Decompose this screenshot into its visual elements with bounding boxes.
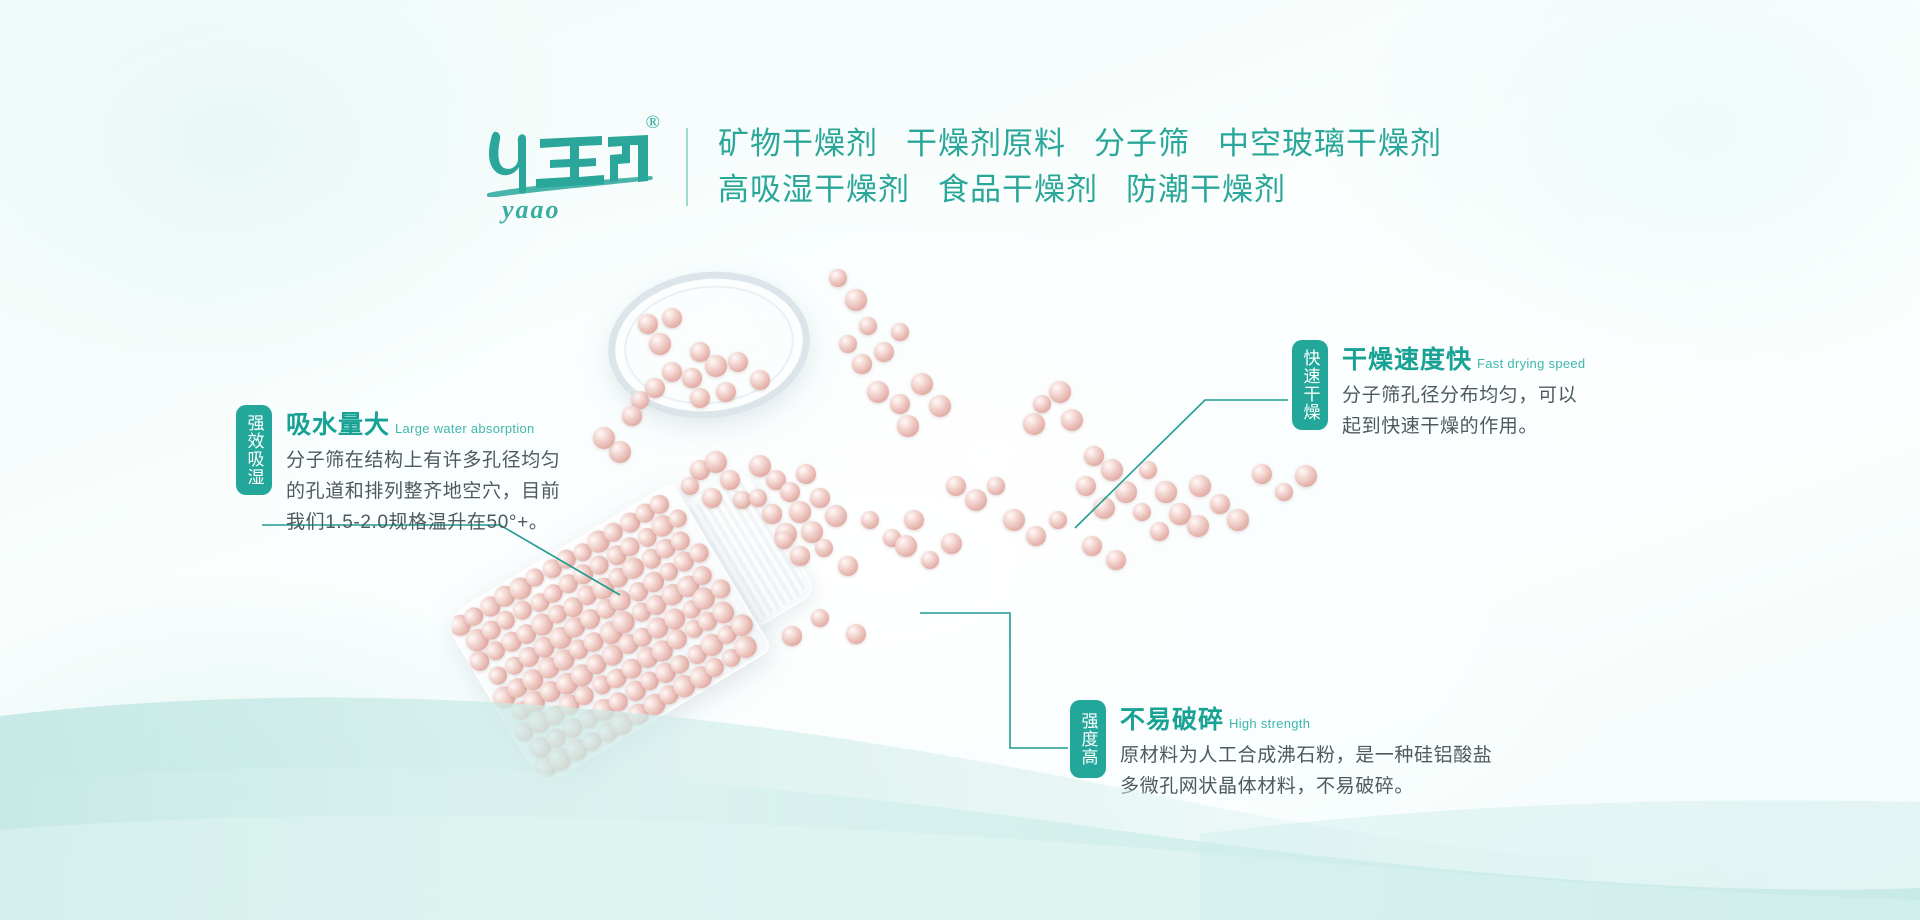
desiccant-bead — [1076, 476, 1096, 496]
desiccant-bead — [1033, 395, 1051, 413]
desiccant-bead — [987, 477, 1004, 494]
desiccant-bead — [890, 394, 910, 414]
desiccant-bead — [749, 455, 771, 477]
callout-tag-fast-drying: 快速干燥 — [1292, 340, 1328, 430]
desiccant-bead — [667, 527, 694, 554]
desiccant-bead — [673, 571, 703, 601]
desiccant-bead — [911, 373, 934, 396]
desiccant-bead — [638, 545, 665, 572]
desiccant-bead — [874, 342, 894, 362]
desiccant-bead — [642, 591, 670, 619]
desiccant-bead — [867, 381, 889, 403]
header-bar: ® yaao 矿物干燥剂 干燥剂原料 分子筛 中空玻璃干燥剂 高吸湿干燥剂 食品… — [0, 112, 1920, 222]
desiccant-bead — [657, 580, 687, 610]
desiccant-bead — [728, 352, 748, 372]
desiccant-bead — [1082, 536, 1103, 557]
desiccant-bead — [624, 700, 653, 729]
desiccant-bead — [694, 608, 721, 635]
callout-speed-body-line-1: 分子筛孔径分布均匀，可以 — [1342, 381, 1585, 412]
desiccant-bead — [861, 511, 879, 529]
background-glow-bottom-left — [0, 580, 620, 920]
keyword-row-1: 矿物干燥剂 干燥剂原料 分子筛 中空玻璃干燥剂 — [718, 124, 1442, 164]
desiccant-bead — [686, 540, 712, 566]
desiccant-bead — [718, 645, 744, 671]
desiccant-bead — [731, 632, 761, 662]
callout-tag-high-strength: 强度高 — [1070, 700, 1106, 778]
desiccant-bead — [639, 690, 669, 720]
desiccant-bead — [766, 470, 786, 490]
desiccant-bead — [838, 556, 858, 576]
desiccant-bead — [649, 333, 671, 355]
desiccant-bead — [1093, 497, 1115, 519]
keyword-desiccant-raw-material[interactable]: 干燥剂原料 — [906, 124, 1066, 164]
desiccant-bead — [839, 335, 857, 353]
desiccant-bead — [634, 525, 660, 551]
wave-layer-4 — [1200, 800, 1920, 920]
photo-haze — [760, 290, 1220, 620]
desiccant-bead — [705, 355, 726, 376]
callout-speed-heading: 干燥速度快 Fast drying speed — [1342, 340, 1585, 376]
desiccant-bead — [965, 489, 988, 512]
desiccant-bead — [657, 560, 682, 585]
callout-speed-title-en: Fast drying speed — [1477, 356, 1585, 371]
desiccant-bead — [1049, 381, 1071, 403]
desiccant-bead — [628, 599, 654, 625]
jar-inner-rim — [618, 277, 799, 412]
desiccant-bead — [1155, 481, 1176, 502]
callout-water-body-line-2: 的孔道和排列整齐地空穴，目前 — [286, 477, 560, 508]
desiccant-bead — [656, 682, 682, 708]
desiccant-bead — [1150, 522, 1169, 541]
desiccant-bead — [921, 551, 939, 569]
logo-wordmark: yaao — [502, 195, 561, 225]
callout-water-body: 分子筛在结构上有许多孔径均匀 的孔道和排列整齐地空穴，目前 我们1.5-2.0规… — [286, 446, 560, 538]
desiccant-bead — [632, 500, 658, 526]
desiccant-bead — [689, 562, 716, 589]
desiccant-bead — [638, 314, 659, 335]
header-divider — [686, 128, 688, 206]
desiccant-bead — [637, 668, 663, 694]
desiccant-bead — [1106, 550, 1126, 570]
callout-high-strength[interactable]: 强度高 不易破碎 High strength 原材料为人工合成沸石粉，是一种硅铝… — [1070, 700, 1492, 803]
desiccant-bead — [603, 542, 630, 569]
desiccant-bead — [714, 622, 740, 648]
bottle-neck — [677, 468, 818, 632]
desiccant-bead — [689, 584, 718, 613]
desiccant-bead — [593, 427, 615, 449]
desiccant-bead — [716, 382, 737, 403]
desiccant-bead — [619, 554, 648, 583]
desiccant-bead — [625, 579, 651, 605]
desiccant-bead — [539, 556, 565, 582]
desiccant-bead — [701, 655, 727, 681]
leader-line-strength — [920, 613, 1068, 748]
desiccant-bead — [1101, 459, 1123, 481]
desiccant-bead — [790, 546, 809, 565]
callout-fast-drying-speed[interactable]: 快速干燥 干燥速度快 Fast drying speed 分子筛孔径分布均匀，可… — [1292, 340, 1585, 443]
desiccant-bead — [584, 527, 613, 556]
desiccant-bead — [705, 451, 727, 473]
desiccant-bead — [720, 470, 740, 490]
desiccant-bead — [670, 548, 697, 575]
desiccant-bead — [681, 477, 700, 496]
desiccant-bead — [669, 671, 699, 701]
desiccant-bead — [883, 529, 901, 547]
desiccant-bead — [554, 546, 580, 572]
banner-stage: ® yaao 矿物干燥剂 干燥剂原料 分子筛 中空玻璃干燥剂 高吸湿干燥剂 食品… — [0, 0, 1920, 920]
callout-water-title-en: Large water absorption — [395, 421, 535, 436]
desiccant-bead — [946, 476, 966, 496]
callout-speed-body: 分子筛孔径分布均匀，可以 起到快速干燥的作用。 — [1342, 381, 1585, 443]
desiccant-bead — [1139, 461, 1157, 479]
desiccant-bead — [846, 624, 867, 645]
keyword-moistureproof-desiccant[interactable]: 防潮干燥剂 — [1126, 170, 1286, 210]
desiccant-bead — [586, 552, 612, 578]
desiccant-bead — [762, 504, 781, 523]
desiccant-bead — [904, 510, 924, 530]
desiccant-bead — [696, 630, 726, 660]
desiccant-bead — [648, 636, 678, 666]
desiccant-bead — [686, 662, 716, 692]
callout-tag-strong-absorption: 强效吸湿 — [236, 405, 272, 495]
desiccant-bead — [660, 604, 689, 633]
desiccant-bead — [622, 406, 642, 426]
desiccant-bead — [811, 609, 830, 628]
desiccant-bead — [941, 533, 962, 554]
desiccant-bead — [1061, 409, 1083, 431]
desiccant-bead — [789, 501, 810, 522]
keyword-molecular-sieve[interactable]: 分子筛 — [1094, 124, 1190, 164]
yaao-logo-mark-icon — [478, 119, 658, 197]
desiccant-bead — [679, 597, 704, 622]
desiccant-bead — [859, 317, 878, 336]
desiccant-bead — [929, 395, 952, 418]
desiccant-bead — [1210, 494, 1230, 514]
keyword-high-absorption-desiccant[interactable]: 高吸湿干燥剂 — [718, 170, 910, 210]
registered-trademark-icon: ® — [646, 113, 660, 132]
desiccant-bead — [662, 308, 683, 329]
desiccant-bead — [616, 509, 643, 536]
desiccant-bead — [647, 511, 677, 541]
keyword-list: 矿物干燥剂 干燥剂原料 分子筛 中空玻璃干燥剂 高吸湿干燥剂 食品干燥剂 防潮干… — [718, 124, 1442, 209]
desiccant-bead — [1275, 483, 1293, 501]
desiccant-bead — [663, 625, 691, 653]
desiccant-bead — [782, 626, 801, 645]
desiccant-bead — [1187, 515, 1209, 537]
desiccant-bead — [1026, 526, 1046, 546]
callout-water-text: 吸水量大 Large water absorption 分子筛在结构上有许多孔径… — [286, 405, 560, 538]
callout-strength-body: 原材料为人工合成沸石粉，是一种硅铝酸盐 多微孔网状晶体材料，不易破碎。 — [1120, 741, 1492, 803]
desiccant-bead — [708, 575, 734, 601]
desiccant-bead — [662, 362, 682, 382]
keyword-mineral-desiccant[interactable]: 矿物干燥剂 — [718, 124, 878, 164]
desiccant-bead — [617, 534, 643, 560]
desiccant-bead — [780, 482, 800, 502]
desiccant-bead — [727, 610, 757, 640]
desiccant-bead — [631, 391, 649, 409]
callout-water-heading: 吸水量大 Large water absorption — [286, 405, 560, 441]
brand-logo[interactable]: ® yaao — [478, 113, 668, 221]
desiccant-bead — [690, 342, 709, 361]
callout-water-title: 吸水量大 — [286, 405, 390, 441]
callout-strength-heading: 不易破碎 High strength — [1120, 700, 1492, 736]
desiccant-bead — [640, 568, 668, 596]
desiccant-bead — [1003, 509, 1026, 532]
desiccant-bead — [775, 523, 797, 545]
desiccant-bead — [1115, 481, 1137, 503]
desiccant-bead — [897, 415, 919, 437]
desiccant-bead — [1084, 446, 1103, 465]
callout-large-water-absorption[interactable]: 强效吸湿 吸水量大 Large water absorption 分子筛在结构上… — [236, 405, 560, 538]
desiccant-bead — [667, 652, 692, 677]
callout-water-body-line-1: 分子筛在结构上有许多孔径均匀 — [286, 446, 560, 477]
desiccant-bead — [815, 539, 833, 557]
callout-strength-body-line-2: 多微孔网状晶体材料，不易破碎。 — [1120, 772, 1492, 803]
callout-strength-title: 不易破碎 — [1120, 700, 1224, 736]
desiccant-bead — [684, 642, 710, 668]
desiccant-bead — [681, 616, 706, 641]
desiccant-bead — [1049, 511, 1067, 529]
desiccant-bead — [622, 678, 648, 704]
desiccant-bead — [1023, 413, 1045, 435]
desiccant-bead — [633, 643, 662, 672]
desiccant-bead — [629, 624, 655, 650]
desiccant-bead — [646, 491, 673, 518]
callout-strength-text: 不易破碎 High strength 原材料为人工合成沸石粉，是一种硅铝酸盐 多… — [1120, 700, 1492, 803]
callout-speed-title: 干燥速度快 — [1342, 340, 1472, 376]
open-glass-jar — [601, 262, 817, 428]
desiccant-bead — [1295, 465, 1318, 488]
desiccant-bead — [733, 491, 751, 509]
desiccant-bead — [644, 614, 673, 643]
desiccant-bead — [775, 531, 794, 550]
desiccant-bead — [1189, 475, 1211, 497]
desiccant-bead — [829, 269, 846, 286]
desiccant-bead — [749, 489, 768, 508]
callout-speed-body-line-2: 起到快速干燥的作用。 — [1342, 412, 1585, 443]
callout-strength-body-line-1: 原材料为人工合成沸石粉，是一种硅铝酸盐 — [1120, 741, 1492, 772]
desiccant-bead — [618, 655, 645, 682]
callout-water-body-line-3: 我们1.5-2.0规格温升在50°+。 — [286, 508, 560, 539]
desiccant-bead — [825, 505, 847, 527]
desiccant-bead — [1133, 503, 1152, 522]
desiccant-bead — [609, 441, 631, 463]
desiccant-bead — [652, 659, 679, 686]
desiccant-bead — [895, 535, 918, 558]
leader-line-speed — [1075, 400, 1288, 528]
desiccant-bead — [845, 289, 866, 310]
desiccant-bead — [1227, 509, 1248, 530]
desiccant-bead — [645, 378, 666, 399]
keyword-row-2: 高吸湿干燥剂 食品干燥剂 防潮干燥剂 — [718, 170, 1442, 210]
desiccant-bead — [702, 488, 722, 508]
desiccant-bead — [1169, 503, 1190, 524]
desiccant-bead — [852, 354, 871, 373]
desiccant-bead — [682, 368, 701, 387]
desiccant-bead — [1252, 464, 1272, 484]
desiccant-bead — [666, 506, 691, 531]
desiccant-bead — [891, 323, 909, 341]
desiccant-bead — [801, 521, 823, 543]
keyword-food-desiccant[interactable]: 食品干燥剂 — [938, 170, 1098, 210]
desiccant-bead — [796, 464, 816, 484]
desiccant-bead — [652, 535, 679, 562]
desiccant-bead — [690, 460, 710, 480]
desiccant-bead — [750, 370, 771, 391]
desiccant-bead — [709, 598, 739, 628]
desiccant-bead — [690, 388, 711, 409]
keyword-insulating-glass-desiccant[interactable]: 中空玻璃干燥剂 — [1218, 124, 1442, 164]
desiccant-bead — [570, 540, 595, 565]
desiccant-bead — [600, 519, 627, 546]
callout-speed-text: 干燥速度快 Fast drying speed 分子筛孔径分布均匀，可以 起到快… — [1342, 340, 1585, 443]
callout-strength-title-en: High strength — [1229, 716, 1310, 731]
desiccant-bead — [810, 488, 829, 507]
